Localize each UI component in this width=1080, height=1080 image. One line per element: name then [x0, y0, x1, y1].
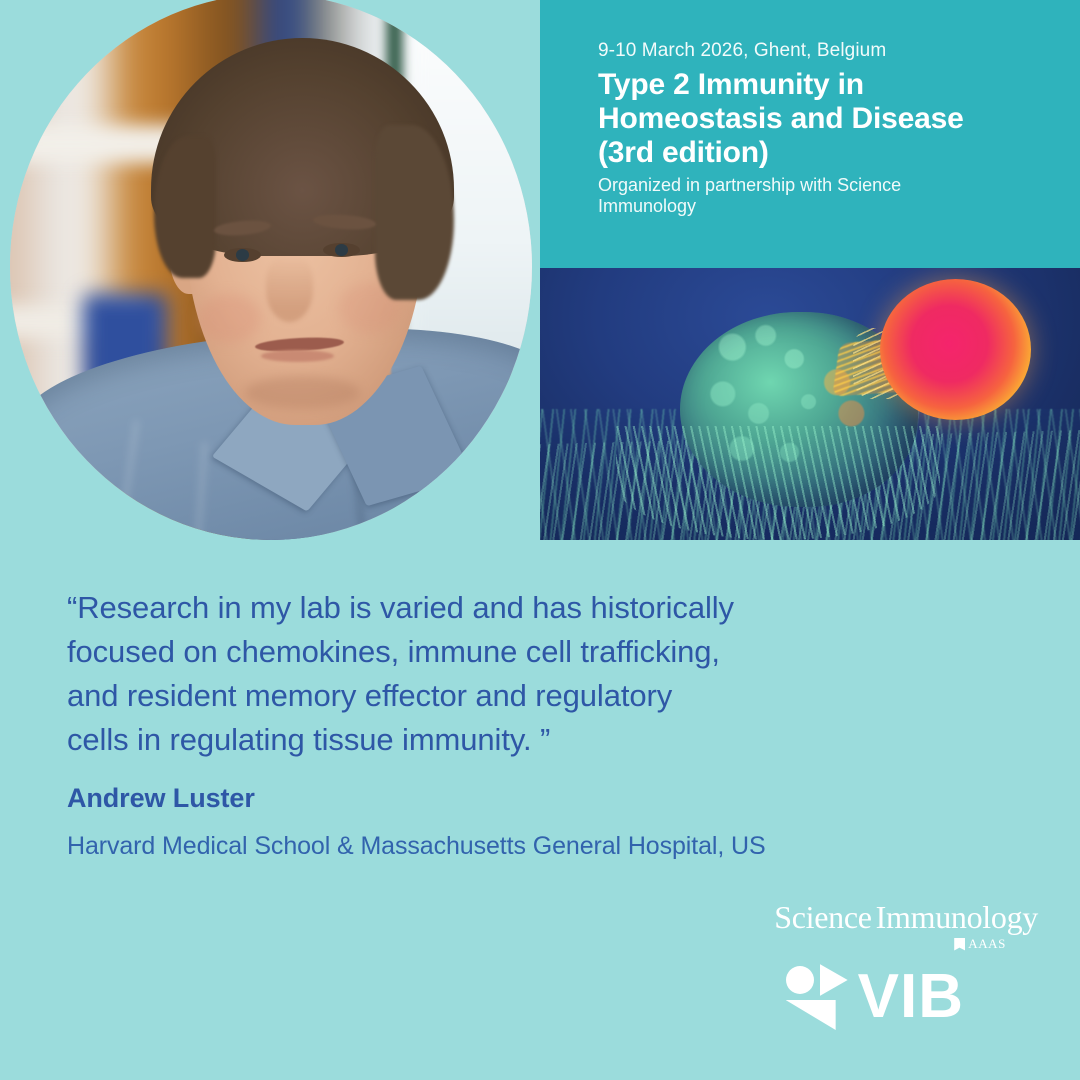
quote-line-2: focused on chemokines, immune cell traff…: [67, 630, 867, 674]
science-immunology-logo-word-1: Science: [774, 899, 871, 935]
aaas-logo-text: AAAS: [968, 936, 1006, 952]
portrait-scene: [10, 0, 532, 540]
vib-circle-icon: [786, 966, 814, 994]
speaker-portrait-photo: [10, 0, 532, 540]
event-title-line-2: Homeostasis and Disease: [598, 102, 1034, 136]
chin-shadow: [245, 376, 360, 409]
event-date-location: 9-10 March 2026, Ghent, Belgium: [598, 40, 1034, 62]
science-immunology-logo-word-2: Immunology: [876, 899, 1038, 935]
event-header-panel: 9-10 March 2026, Ghent, Belgium Type 2 I…: [540, 0, 1080, 268]
logo-area: ScienceImmunology AAAS VIB: [774, 900, 1038, 1030]
pupil-left: [236, 249, 250, 261]
event-title: Type 2 Immunity in Homeostasis and Disea…: [598, 68, 1034, 170]
event-title-line-3: (3rd edition): [598, 136, 1034, 170]
science-immunology-logo: ScienceImmunology: [774, 900, 1038, 934]
quote-line-1: “Research in my lab is varied and has hi…: [67, 586, 867, 630]
aaas-logo: AAAS: [954, 936, 1006, 952]
speaker-affiliation: Harvard Medical School & Massachusetts G…: [67, 832, 766, 861]
event-partnership-note: Organized in partnership with Science Im…: [598, 175, 948, 217]
vib-logo: VIB: [786, 964, 964, 1030]
speaker-announcement-poster: 9-10 March 2026, Ghent, Belgium Type 2 I…: [0, 0, 1080, 1080]
quote-line-3: and resident memory effector and regulat…: [67, 674, 867, 718]
lower-lip: [261, 350, 334, 362]
speaker-quote: “Research in my lab is varied and has hi…: [67, 586, 867, 762]
event-title-line-1: Type 2 Immunity in: [598, 68, 1034, 102]
speaker-name: Andrew Luster: [67, 783, 255, 814]
t-cell: [880, 279, 1031, 420]
nose: [266, 256, 313, 322]
quote-line-4: cells in regulating tissue immunity. ”: [67, 718, 867, 762]
vib-logo-text: VIB: [858, 966, 964, 1028]
immune-cell-micrograph-image: [540, 268, 1080, 540]
vib-triangle-right-icon: [820, 964, 848, 996]
vib-triangle-down-icon: [786, 1000, 836, 1030]
cheek-left: [198, 294, 261, 343]
cell-tendrils: [616, 426, 940, 540]
vib-mark-icon: [786, 964, 850, 1030]
aaas-mark-icon: [954, 938, 965, 951]
